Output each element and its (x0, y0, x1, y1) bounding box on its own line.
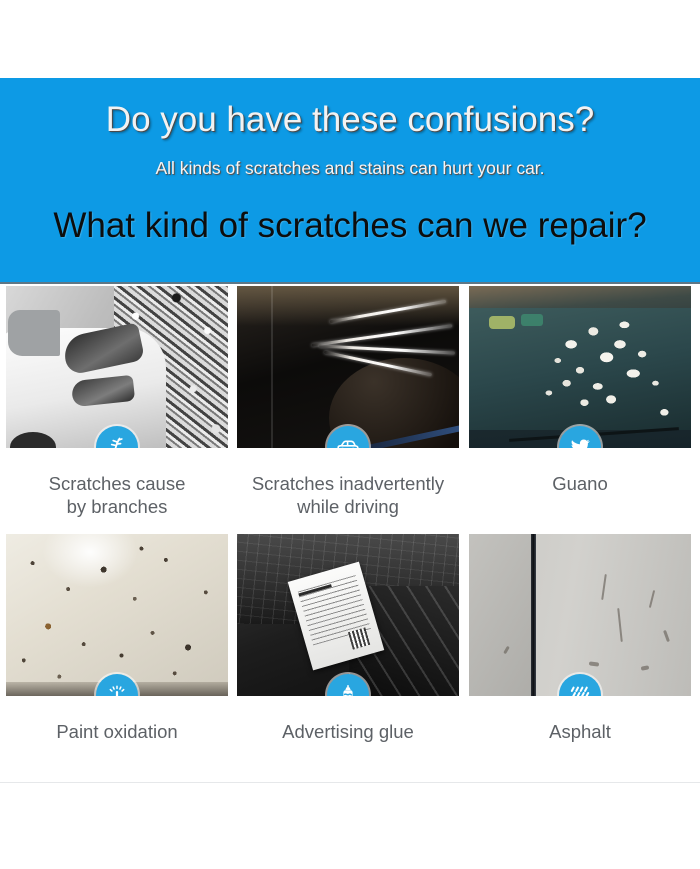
damage-caption: Guano (443, 472, 700, 495)
damage-type-card[interactable]: Scratches cause by branches (6, 286, 228, 448)
photo-scene-asphalt (469, 534, 691, 696)
photo-scene-branches (6, 286, 228, 448)
damage-type-card[interactable]: Guano (469, 286, 691, 448)
damage-type-card[interactable]: Advertising glue (237, 534, 459, 696)
top-whitespace (0, 0, 700, 78)
photo-scene-advertising-glue (237, 534, 459, 696)
damage-type-card[interactable]: Paint oxidation (6, 534, 228, 696)
damage-type-card[interactable]: Asphalt (469, 534, 691, 696)
damage-type-row: Paint oxidation (0, 534, 700, 782)
damage-photo (6, 534, 228, 696)
photo-scene-driving-scratches (237, 286, 459, 448)
caption-line-1: Guano (443, 472, 700, 495)
banner-question-heading: What kind of scratches can we repair? (0, 206, 700, 246)
bottom-divider (0, 782, 700, 783)
damage-photo (469, 534, 691, 696)
damage-type-card[interactable]: Scratches inadvertently while driving (237, 286, 459, 448)
damage-type-grid: Scratches cause by branches (0, 286, 700, 782)
promo-banner: Do you have these confusions? All kinds … (0, 78, 700, 284)
damage-photo (237, 286, 459, 448)
damage-photo (237, 534, 459, 696)
caption-line-1: Asphalt (443, 720, 700, 743)
photo-scene-paint-oxidation (6, 534, 228, 696)
caption-line-2: while driving (211, 495, 485, 518)
photo-scene-guano (469, 286, 691, 448)
damage-photo (6, 286, 228, 448)
damage-photo (469, 286, 691, 448)
banner-title: Do you have these confusions? (0, 100, 700, 140)
damage-type-row: Scratches cause by branches (0, 286, 700, 534)
banner-bottom-edge (0, 282, 700, 284)
banner-subtitle: All kinds of scratches and stains can hu… (0, 158, 700, 179)
damage-caption: Asphalt (443, 720, 700, 743)
